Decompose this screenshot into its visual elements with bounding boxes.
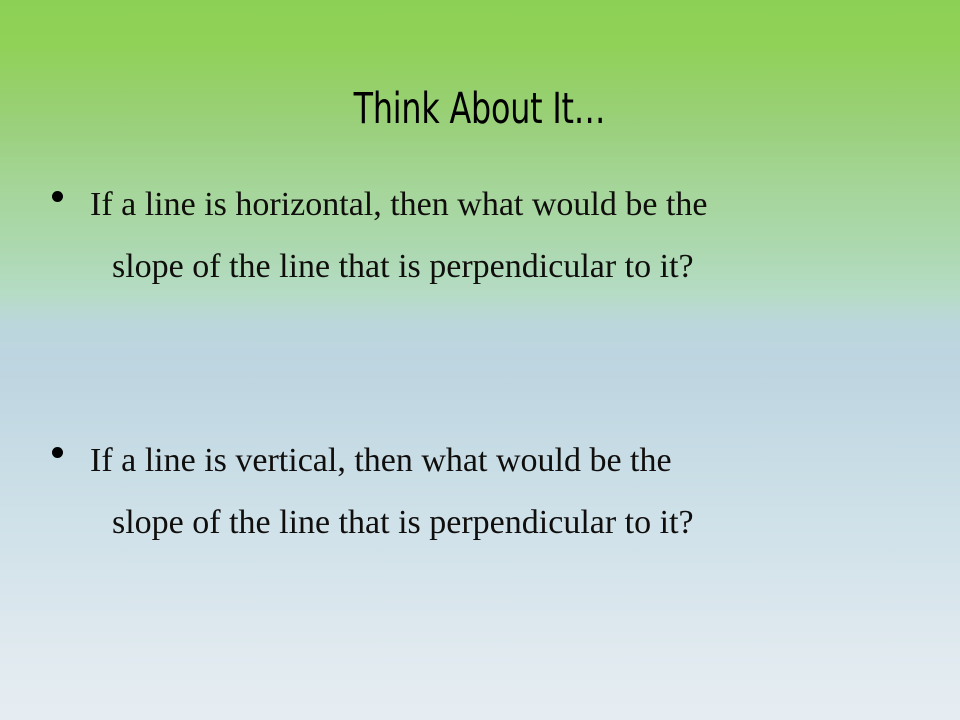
- bullet-text: If a line is horizontal, then what would…: [90, 174, 932, 298]
- bullet-line: If a line is vertical, then what would b…: [90, 430, 892, 492]
- page-title: Think About It…: [354, 87, 606, 132]
- slide-title-container: Think About It…: [0, 58, 960, 161]
- list-item: If a line is vertical, then what would b…: [52, 430, 932, 554]
- list-item: If a line is horizontal, then what would…: [52, 174, 932, 298]
- bullet-line: slope of the line that is perpendicular …: [90, 236, 892, 298]
- bullet-line: slope of the line that is perpendicular …: [90, 492, 892, 554]
- bullet-dot-icon: [52, 191, 63, 202]
- bullet-text: If a line is vertical, then what would b…: [90, 430, 932, 554]
- bullet-marker: [52, 174, 90, 202]
- bullet-dot-icon: [52, 447, 63, 458]
- presentation-slide: Think About It… If a line is horizontal,…: [0, 0, 960, 720]
- slide-body-content: If a line is horizontal, then what would…: [52, 174, 932, 554]
- bullet-line: If a line is horizontal, then what would…: [90, 174, 892, 236]
- bullet-marker: [52, 430, 90, 458]
